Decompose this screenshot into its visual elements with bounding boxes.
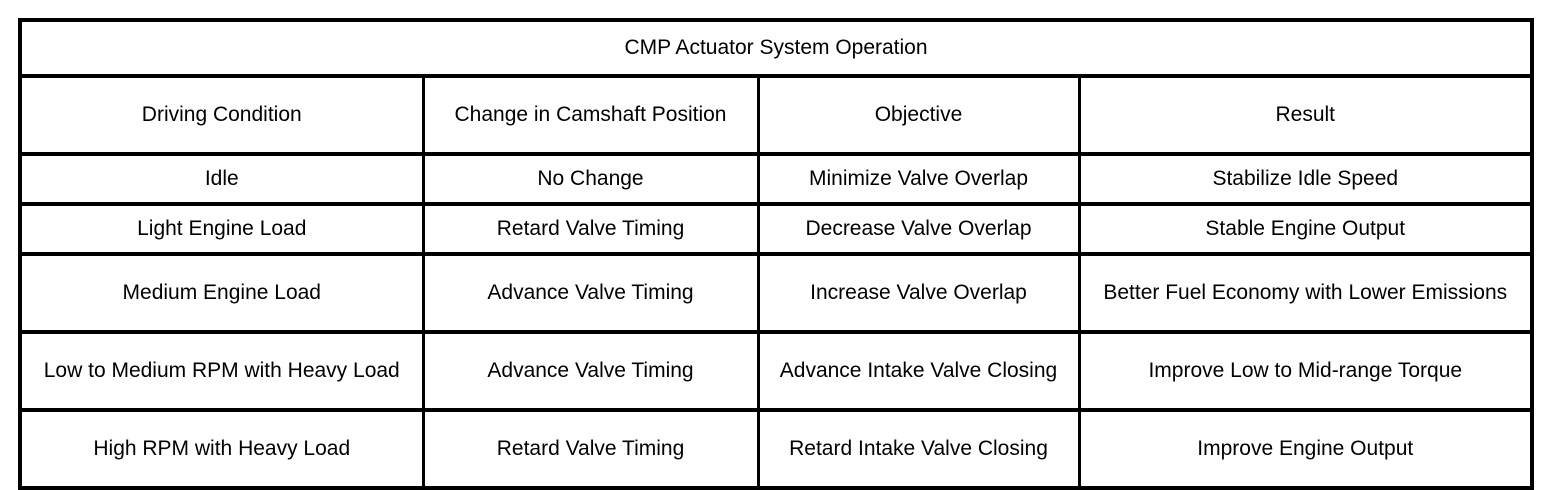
column-header-change-in-camshaft-position: Change in Camshaft Position xyxy=(423,76,758,154)
column-header-objective: Objective xyxy=(758,76,1079,154)
table-header-row: Driving Condition Change in Camshaft Pos… xyxy=(20,76,1532,154)
cell-result: Improve Low to Mid-range Torque xyxy=(1079,332,1532,410)
cell-result: Improve Engine Output xyxy=(1079,410,1532,488)
column-header-driving-condition: Driving Condition xyxy=(20,76,423,154)
cell-change-in-camshaft-position: Retard Valve Timing xyxy=(423,410,758,488)
cell-change-in-camshaft-position: Retard Valve Timing xyxy=(423,204,758,254)
cmp-actuator-table-container: CMP Actuator System Operation Driving Co… xyxy=(18,18,1530,490)
cell-result: Better Fuel Economy with Lower Emissions xyxy=(1079,254,1532,332)
cell-objective: Retard Intake Valve Closing xyxy=(758,410,1079,488)
cell-objective: Advance Intake Valve Closing xyxy=(758,332,1079,410)
table-title-row: CMP Actuator System Operation xyxy=(20,20,1532,76)
table-title: CMP Actuator System Operation xyxy=(20,20,1532,76)
cell-result: Stable Engine Output xyxy=(1079,204,1532,254)
cell-objective: Increase Valve Overlap xyxy=(758,254,1079,332)
cell-change-in-camshaft-position: No Change xyxy=(423,154,758,204)
table-row: High RPM with Heavy Load Retard Valve Ti… xyxy=(20,410,1532,488)
table-row: Medium Engine Load Advance Valve Timing … xyxy=(20,254,1532,332)
cell-driving-condition: Light Engine Load xyxy=(20,204,423,254)
cell-change-in-camshaft-position: Advance Valve Timing xyxy=(423,332,758,410)
cell-driving-condition: Idle xyxy=(20,154,423,204)
cell-driving-condition: Low to Medium RPM with Heavy Load xyxy=(20,332,423,410)
cell-driving-condition: Medium Engine Load xyxy=(20,254,423,332)
table-row: Low to Medium RPM with Heavy Load Advanc… xyxy=(20,332,1532,410)
cell-objective: Minimize Valve Overlap xyxy=(758,154,1079,204)
table-row: Light Engine Load Retard Valve Timing De… xyxy=(20,204,1532,254)
cell-objective: Decrease Valve Overlap xyxy=(758,204,1079,254)
cmp-actuator-system-operation-table: CMP Actuator System Operation Driving Co… xyxy=(18,18,1534,490)
cell-change-in-camshaft-position: Advance Valve Timing xyxy=(423,254,758,332)
table-row: Idle No Change Minimize Valve Overlap St… xyxy=(20,154,1532,204)
cell-driving-condition: High RPM with Heavy Load xyxy=(20,410,423,488)
cell-result: Stabilize Idle Speed xyxy=(1079,154,1532,204)
column-header-result: Result xyxy=(1079,76,1532,154)
